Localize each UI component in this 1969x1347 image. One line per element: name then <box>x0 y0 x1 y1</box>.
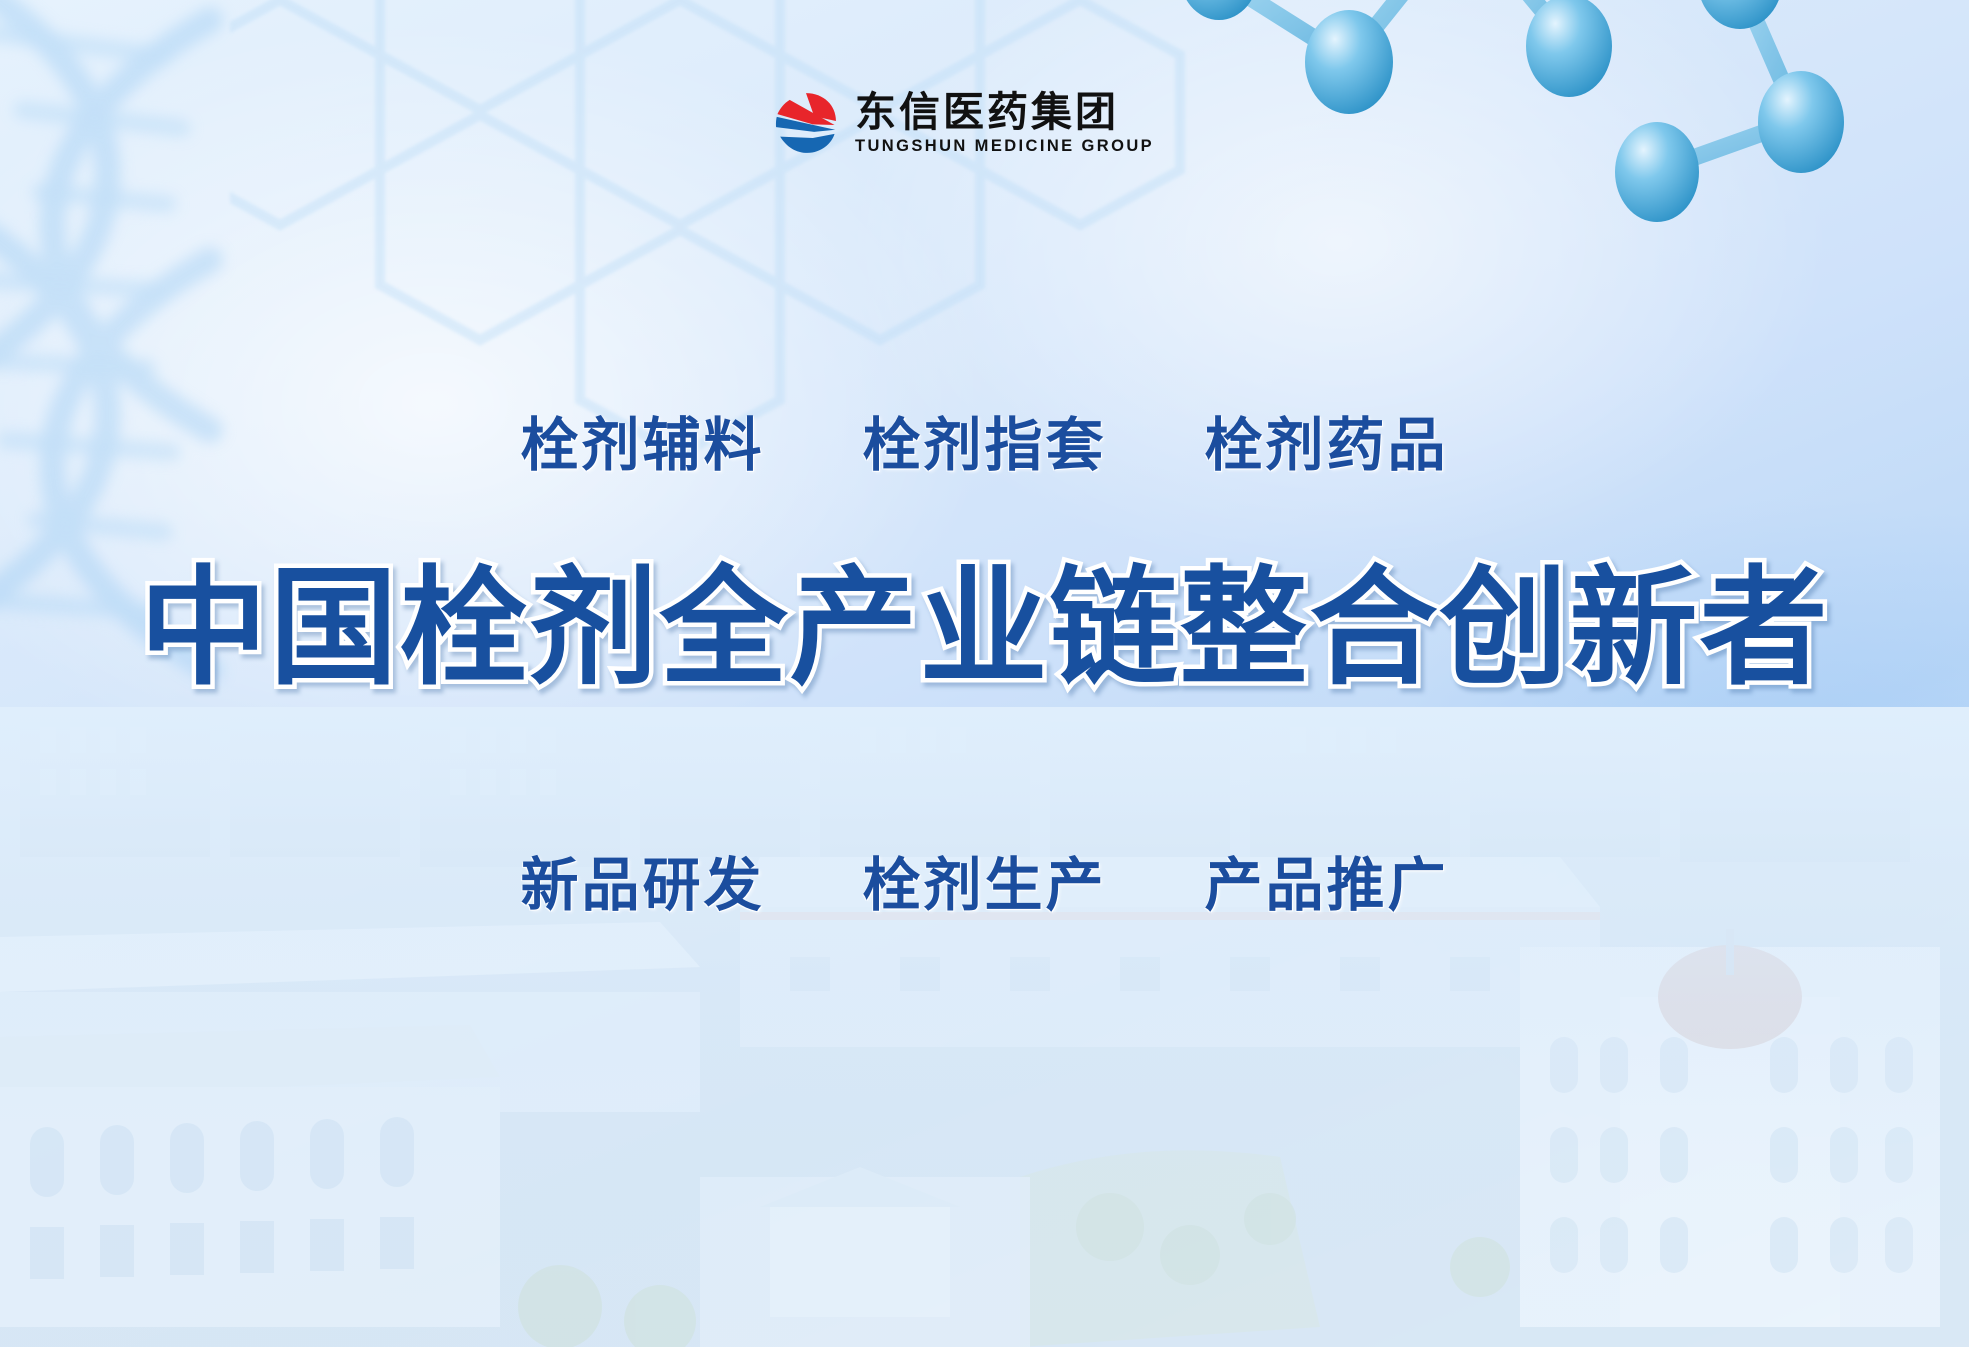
top-keyword-row: 栓剂辅料 栓剂指套 栓剂药品 <box>0 398 1969 482</box>
company-logo: 东信医药集团 TUNGSHUN MEDICINE GROUP <box>772 88 1154 158</box>
headline: 中国栓剂全产业链整合创新者 <box>0 565 1969 693</box>
keyword-top-2: 栓剂指套 <box>862 398 1106 482</box>
banner-canvas: 东信医药集团 TUNGSHUN MEDICINE GROUP 栓剂辅料 栓剂指套… <box>0 0 1969 1347</box>
logo-name-en: TUNGSHUN MEDICINE GROUP <box>855 137 1154 155</box>
logo-name-cn: 东信医药集团 <box>855 91 1154 134</box>
keyword-bottom-1: 新品研发 <box>520 838 764 922</box>
keyword-bottom-3: 产品推广 <box>1205 838 1449 922</box>
bottom-keyword-row: 新品研发 栓剂生产 产品推广 <box>0 838 1969 922</box>
keyword-bottom-2: 栓剂生产 <box>862 838 1106 922</box>
sunburst-logo-icon <box>772 88 840 158</box>
keyword-top-3: 栓剂药品 <box>1205 398 1449 482</box>
headline-text: 中国栓剂全产业链整合创新者 <box>139 565 1829 693</box>
photo-fade-overlay <box>0 707 1969 1347</box>
keyword-top-1: 栓剂辅料 <box>520 398 764 482</box>
molecule-structure-icon <box>1099 0 1969 270</box>
factory-campus-photo <box>0 707 1969 1347</box>
